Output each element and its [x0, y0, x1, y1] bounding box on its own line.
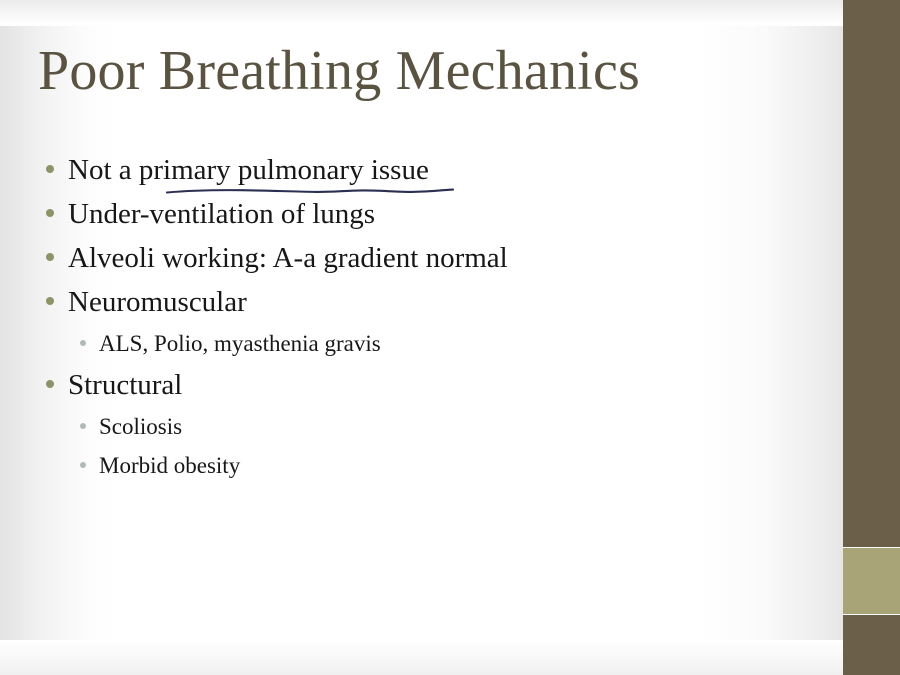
slide-title: Poor Breathing Mechanics: [38, 42, 640, 101]
sidebar-band-accent: [843, 548, 900, 614]
bullet-item: Not a primary pulmonary issue: [46, 156, 816, 200]
bullet-dot-icon: [80, 423, 86, 429]
sub-bullet-item: Scoliosis: [46, 415, 816, 454]
bullet-item: Alveoli working: A-a gradient normal: [46, 244, 816, 288]
sub-bullet-text: ALS, Polio, myasthenia gravis: [99, 332, 381, 355]
bullet-item: Structural: [46, 371, 816, 415]
bullet-text: Structural: [68, 371, 182, 400]
bullet-text: Under-ventilation of lungs: [68, 200, 375, 229]
bullet-dot-icon: [80, 462, 86, 468]
bullet-dot-icon: [46, 209, 54, 217]
sub-bullet-item: Morbid obesity: [46, 454, 816, 493]
bullet-dot-icon: [46, 380, 54, 388]
bullet-list: Not a primary pulmonary issue Under-vent…: [46, 156, 816, 493]
sub-bullet-text: Morbid obesity: [99, 454, 240, 477]
bullet-dot-icon: [46, 297, 54, 305]
page-shading-top: [0, 0, 843, 26]
bullet-dot-icon: [80, 340, 86, 346]
bullet-item: Under-ventilation of lungs: [46, 200, 816, 244]
bullet-text: Not a primary pulmonary issue: [68, 156, 429, 185]
sidebar-band-upper-dark: [843, 0, 900, 547]
slide-canvas: Poor Breathing Mechanics Not a primary p…: [0, 0, 900, 675]
sub-bullet-item: ALS, Polio, myasthenia gravis: [46, 332, 816, 371]
sidebar-band-lower-dark: [843, 615, 900, 675]
bullet-dot-icon: [46, 253, 54, 261]
bullet-text: Alveoli working: A-a gradient normal: [68, 244, 508, 273]
page-shading-bottom: [0, 640, 843, 675]
bullet-item: Neuromuscular: [46, 288, 816, 332]
bullet-dot-icon: [46, 165, 54, 173]
sub-bullet-text: Scoliosis: [99, 415, 182, 438]
bullet-text: Neuromuscular: [68, 288, 247, 317]
